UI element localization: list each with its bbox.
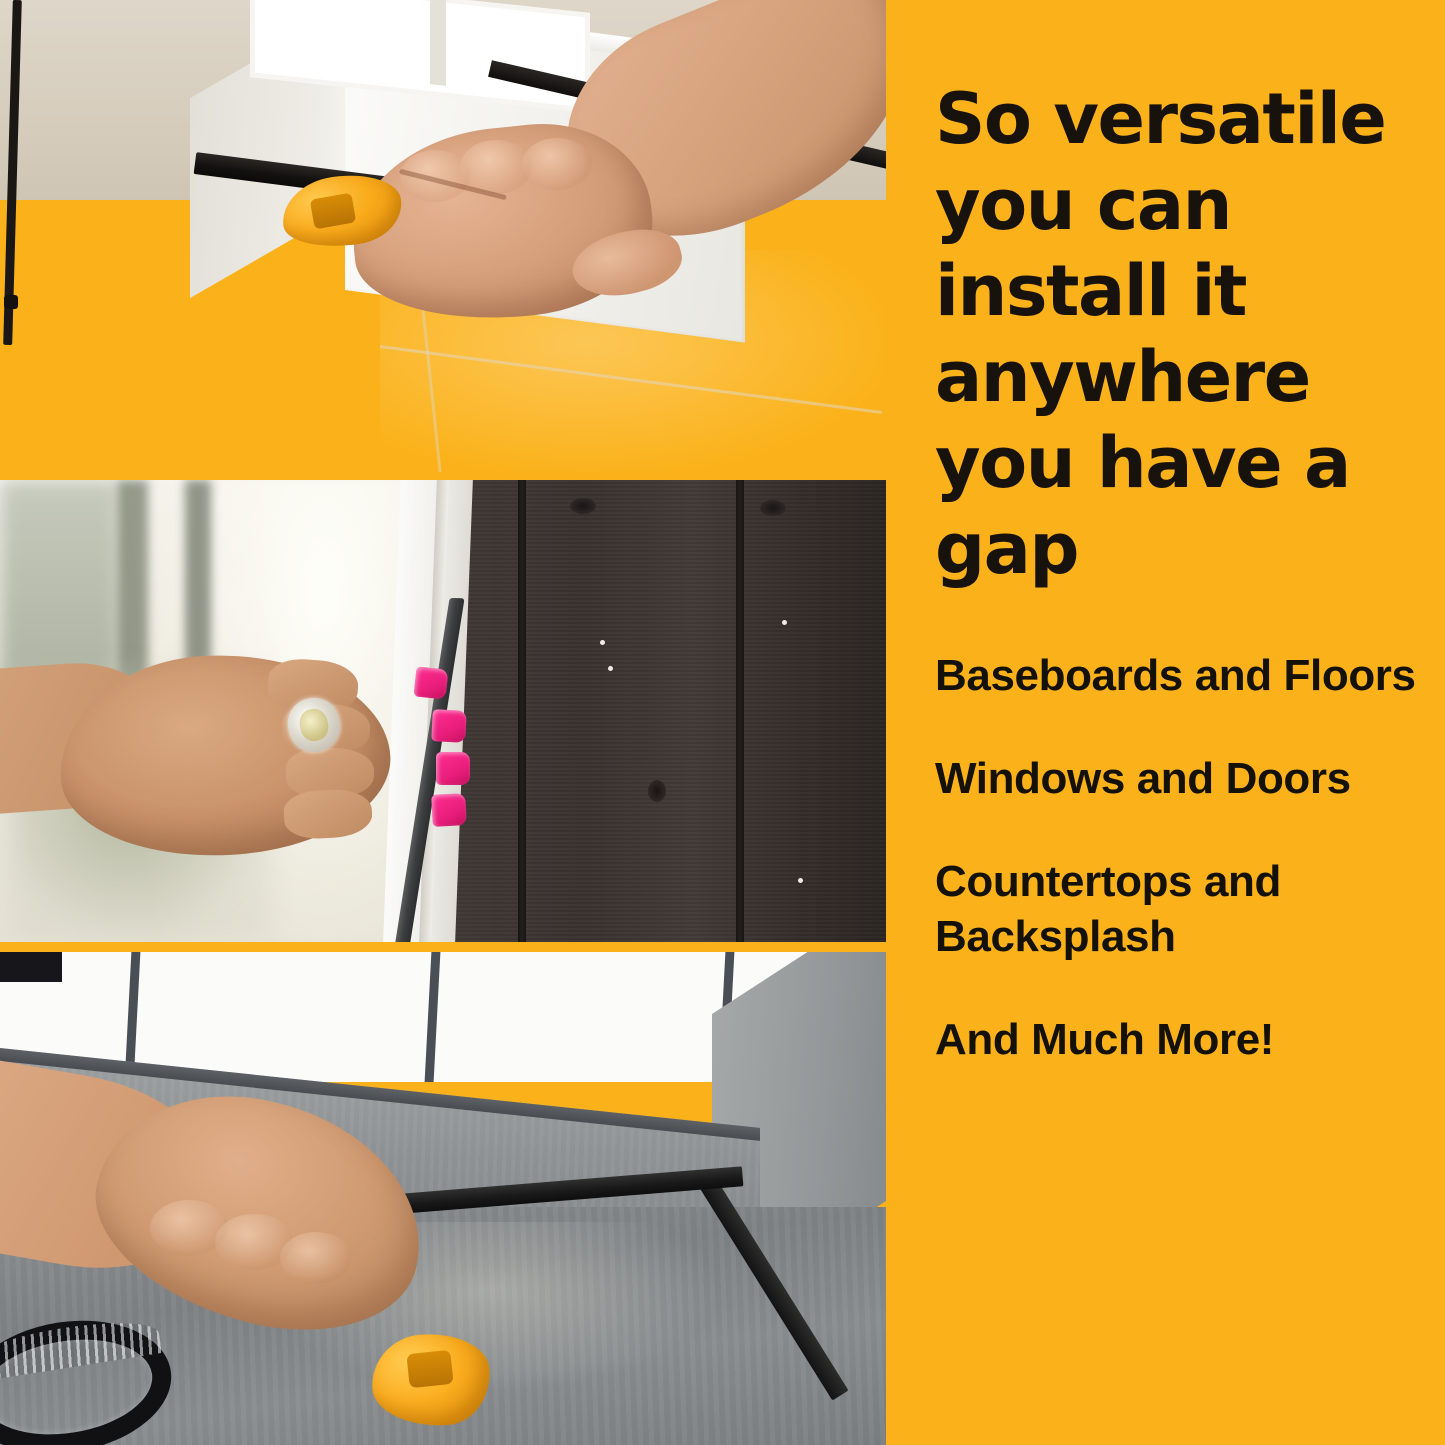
paint-speck: [608, 666, 613, 671]
paint-speck: [600, 640, 605, 645]
knuckle: [522, 138, 592, 190]
list-item-windows: Windows and Doors: [935, 751, 1445, 806]
pink-fingernail: [431, 793, 467, 827]
photo-window-door: [0, 480, 886, 942]
table-leg-foot: [4, 295, 18, 309]
wood-knot: [760, 500, 786, 516]
applicator-tool-notch: [406, 1350, 453, 1388]
dark-corner-object: [0, 952, 62, 982]
list-item-baseboards: Baseboards and Floors: [935, 648, 1445, 703]
headline: So versatile you can install it anywhere…: [935, 76, 1435, 592]
paint-speck: [798, 878, 803, 883]
wall-panel-gap: [430, 0, 446, 86]
wood-knot: [648, 780, 666, 802]
pink-fingernail: [414, 666, 449, 699]
photo-column: [0, 0, 886, 1445]
photo-countertop-backsplash: [0, 952, 886, 1445]
pink-fingernail: [436, 752, 470, 785]
list-item-countertops: Countertops and Backsplash: [935, 854, 1445, 964]
photo-divider: [0, 942, 886, 952]
use-case-list: Baseboards and Floors Windows and Doors …: [935, 648, 1445, 1067]
pink-fingernail: [431, 709, 467, 743]
wood-knot: [570, 498, 596, 514]
siding-plank-seam: [736, 480, 744, 942]
list-item-more: And Much More!: [935, 1012, 1445, 1067]
knuckle: [280, 1232, 352, 1284]
paint-speck: [782, 620, 787, 625]
photo-divider: [0, 472, 886, 480]
siding-plank-seam: [518, 480, 526, 942]
product-feature-poster: So versatile you can install it anywhere…: [0, 0, 1445, 1445]
text-panel: So versatile you can install it anywhere…: [886, 0, 1445, 1445]
photo-baseboard-floor: [0, 0, 886, 472]
